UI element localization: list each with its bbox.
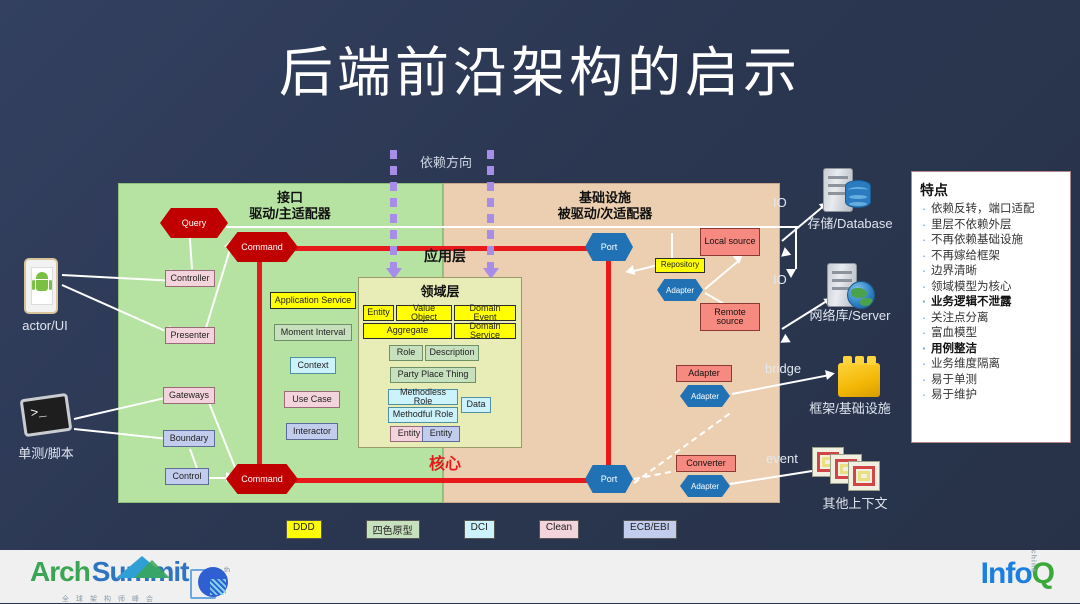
box-boundary[interactable]: Boundary: [163, 430, 215, 447]
box-role[interactable]: Role: [389, 345, 423, 361]
box-application-service[interactable]: Application Service: [270, 292, 356, 309]
core-label: 核心: [390, 450, 500, 474]
arrow-query-down: [795, 227, 797, 269]
io-label-server: IO: [773, 272, 787, 287]
hex-adapter-bridge[interactable]: Adapter: [680, 385, 730, 407]
hex-port-top[interactable]: Port: [585, 233, 633, 261]
bridge-label: bridge: [765, 361, 801, 376]
feature-item: 易于维护: [920, 388, 1064, 404]
box-value-object[interactable]: Value Object: [396, 305, 452, 321]
hex-adapter-event[interactable]: Adapter: [680, 475, 730, 497]
box-methodless-role[interactable]: Methodless Role: [388, 389, 458, 405]
feature-item: 关注点分离: [920, 311, 1064, 327]
box-entity-ddd[interactable]: Entity: [363, 305, 394, 321]
io-label-database: IO: [773, 195, 787, 210]
legend-item-ecb-ebi[interactable]: ECB/EBI: [623, 520, 676, 539]
database-label: 存储/Database: [785, 213, 915, 232]
hex-query[interactable]: Query: [160, 208, 228, 238]
infrastructure-heading: 基础设施 被驱动/次适配器: [505, 190, 705, 222]
feature-item: 领域模型为核心: [920, 280, 1064, 296]
infoq-info-text: Info: [981, 557, 1032, 590]
database-icon: [845, 180, 871, 208]
feature-item: 边界清晰: [920, 264, 1064, 280]
box-gateways[interactable]: Gateways: [163, 387, 215, 404]
hex-command-bottom[interactable]: Command: [226, 464, 298, 494]
arrowhead-bridge-framework: [825, 368, 836, 380]
box-control[interactable]: Control: [165, 468, 209, 485]
box-remote-source[interactable]: Remote source: [700, 303, 760, 331]
box-party-place-thing[interactable]: Party Place Thing: [390, 367, 476, 383]
feature-item: 依赖反转，端口适配: [920, 202, 1064, 218]
archsummit-logo: Arch Summit 全球架构师峰会 th: [30, 558, 188, 586]
event-label: event: [766, 451, 798, 466]
infoq-subtitle: china: [1029, 550, 1036, 573]
feature-item: 富血模型: [920, 326, 1064, 342]
actor-ui-label: actor/UI: [0, 318, 90, 333]
arrowhead-query-down: [786, 269, 796, 278]
features-title: 特点: [920, 180, 1064, 200]
slide-canvas: 后端前沿架构的启示 actor/UI 单测/脚本 接口 驱动/主适配器 基础设施…: [0, 0, 1080, 603]
box-description[interactable]: Description: [425, 345, 479, 361]
phone-icon: [24, 258, 58, 314]
page-title: 后端前沿架构的启示: [0, 28, 1080, 107]
lego-block-icon: [838, 363, 880, 397]
box-domain-event[interactable]: Domain Event: [454, 305, 516, 321]
terminal-icon: [20, 393, 73, 437]
unit-test-label: 单测/脚本: [0, 443, 92, 462]
box-converter[interactable]: Converter: [676, 455, 736, 472]
badge-sup-text: th: [224, 567, 230, 574]
box-context[interactable]: Context: [290, 357, 336, 374]
feature-item: 用例整洁: [920, 342, 1064, 358]
core-border-right: [606, 246, 611, 483]
box-adapter-bridge[interactable]: Adapter: [676, 365, 732, 382]
legend: DDD四色原型DCICleanECB/EBI: [286, 520, 677, 539]
android-robot-icon: [35, 272, 49, 292]
other-context-label: 其他上下文: [790, 493, 920, 512]
dependency-direction-label: 依赖方向: [396, 152, 496, 171]
legend-item-clean[interactable]: Clean: [539, 520, 579, 539]
feature-item: 易于单测: [920, 373, 1064, 389]
legend-item-ddd[interactable]: DDD: [286, 520, 322, 539]
feature-item: 业务逻辑不泄露: [920, 295, 1064, 311]
context-cards-icon: [812, 447, 882, 491]
server-label: 网络库/Server: [785, 305, 915, 324]
box-controller[interactable]: Controller: [165, 270, 215, 287]
box-local-source[interactable]: Local source: [700, 228, 760, 256]
archsummit-badge-icon: th: [190, 567, 226, 603]
core-border-left: [257, 246, 262, 483]
box-aggregate[interactable]: Aggregate: [363, 323, 452, 339]
box-repository[interactable]: Repository: [655, 258, 705, 273]
legend-item--[interactable]: 四色原型: [366, 520, 420, 539]
box-interactor[interactable]: Interactor: [286, 423, 338, 440]
infoq-logo: InfoQ china: [981, 559, 1054, 589]
feature-item: 里层不依赖外层: [920, 218, 1064, 234]
hex-command-top[interactable]: Command: [226, 232, 298, 262]
framework-label: 框架/基础设施: [785, 398, 915, 417]
footer-bar: Arch Summit 全球架构师峰会 th InfoQ china: [0, 550, 1080, 603]
box-methodful-role[interactable]: Methodful Role: [388, 407, 458, 423]
feature-item: 不再依赖基础设施: [920, 233, 1064, 249]
legend-item-dci[interactable]: DCI: [464, 520, 495, 539]
box-moment-interval[interactable]: Moment Interval: [274, 324, 352, 341]
box-data[interactable]: Data: [461, 397, 491, 413]
core-border-bottom: [253, 478, 620, 483]
features-list: 依赖反转，端口适配里层不依赖外层不再依赖基础设施不再嫁给框架边界清晰领域模型为核…: [920, 202, 1064, 404]
domain-layer-label: 领域层: [358, 281, 522, 300]
arrow-down-repository: [671, 233, 673, 261]
mountain-icon-small: [134, 560, 170, 578]
feature-item: 业务维度隔离: [920, 357, 1064, 373]
hex-adapter-repository[interactable]: Adapter: [657, 279, 703, 301]
box-domain-service[interactable]: Domain Service: [454, 323, 516, 339]
box-presenter[interactable]: Presenter: [165, 327, 215, 344]
application-layer-label: 应用层: [390, 246, 500, 266]
archsummit-arch-text: Arch: [30, 558, 90, 586]
globe-icon: [847, 281, 875, 309]
features-panel: 特点 依赖反转，端口适配里层不依赖外层不再依赖基础设施不再嫁给框架边界清晰领域模…: [911, 171, 1071, 443]
interface-heading: 接口 驱动/主适配器: [210, 190, 370, 222]
hex-port-bottom[interactable]: Port: [585, 465, 633, 493]
box-use-case[interactable]: Use Case: [284, 391, 340, 408]
box-entity-ecb[interactable]: Entity: [422, 426, 460, 442]
feature-item: 不再嫁给框架: [920, 249, 1064, 265]
